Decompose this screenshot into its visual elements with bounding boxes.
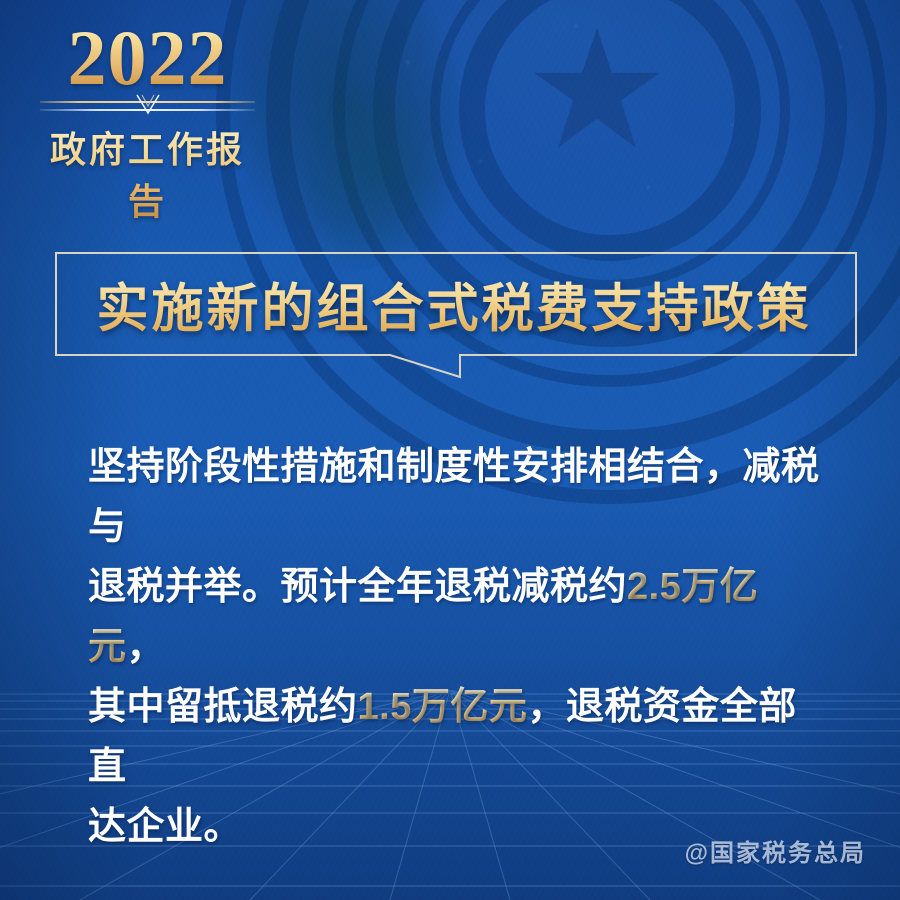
body-text-run: 坚持阶段性措施和制度性安排相结合，减税与 <box>88 446 820 548</box>
header-divider <box>40 96 255 118</box>
body-line: 坚持阶段性措施和制度性安排相结合，减税与 <box>88 437 833 557</box>
report-title: 政府工作报告 <box>40 121 255 225</box>
body-text-run: 退税并举。预计全年退税减税约 <box>88 566 627 608</box>
body-text-run: ， <box>127 626 166 668</box>
header-logo: 2022 政府工作报告 <box>40 22 255 225</box>
watermark-label: @国家税务总局 <box>685 833 866 868</box>
chevron-ornament-icon <box>131 94 165 116</box>
body-line: 其中留抵退税约1.5万亿元，退税资金全部直 <box>88 677 833 797</box>
title-banner: 实施新的组合式税费支持政策 <box>56 253 852 355</box>
poster-root: 2022 政府工作报告 实施新的组合式税费支持政策 坚持阶段性措施和制度性安排相… <box>0 0 900 900</box>
body-line: 退税并举。预计全年退税减税约2.5万亿元， <box>88 557 833 677</box>
body-text-run: 达企业。 <box>88 806 242 848</box>
banner-title-text: 实施新的组合式税费支持政策 <box>56 267 852 342</box>
body-text-run: 其中留抵退税约 <box>88 686 358 728</box>
year-heading: 2022 <box>40 22 255 94</box>
body-highlight-value: 1.5万亿元 <box>358 686 528 728</box>
body-paragraph: 坚持阶段性措施和制度性安排相结合，减税与退税并举。预计全年退税减税约2.5万亿元… <box>88 437 833 857</box>
